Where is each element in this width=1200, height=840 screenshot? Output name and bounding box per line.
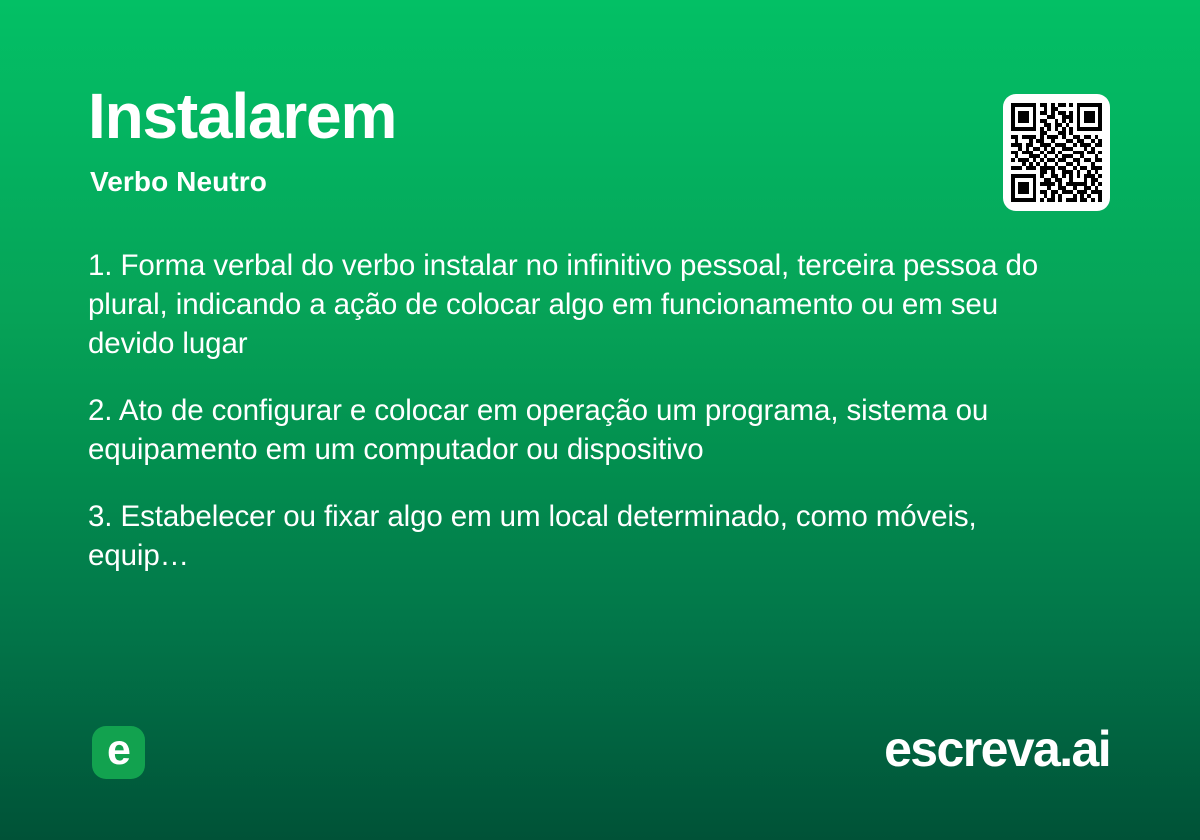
definition-card: Instalarem Verbo Neutro 1. Forma verbal … (0, 0, 1200, 840)
brand-wordmark: escreva.ai (884, 722, 1110, 777)
definition-list: 1. Forma verbal do verbo instalar no inf… (88, 246, 1078, 575)
qr-code-icon (1011, 103, 1102, 202)
qr-code-card[interactable] (1003, 94, 1110, 211)
definition-item: 1. Forma verbal do verbo instalar no inf… (88, 246, 1078, 363)
brand-logo-badge: e (92, 726, 145, 779)
page-title: Instalarem (88, 84, 396, 148)
word-class-label: Verbo Neutro (90, 166, 267, 198)
definition-item: 3. Estabelecer ou fixar algo em um local… (88, 497, 1078, 575)
definition-item: 2. Ato de configurar e colocar em operaç… (88, 391, 1078, 469)
brand-logo-letter: e (107, 729, 130, 772)
